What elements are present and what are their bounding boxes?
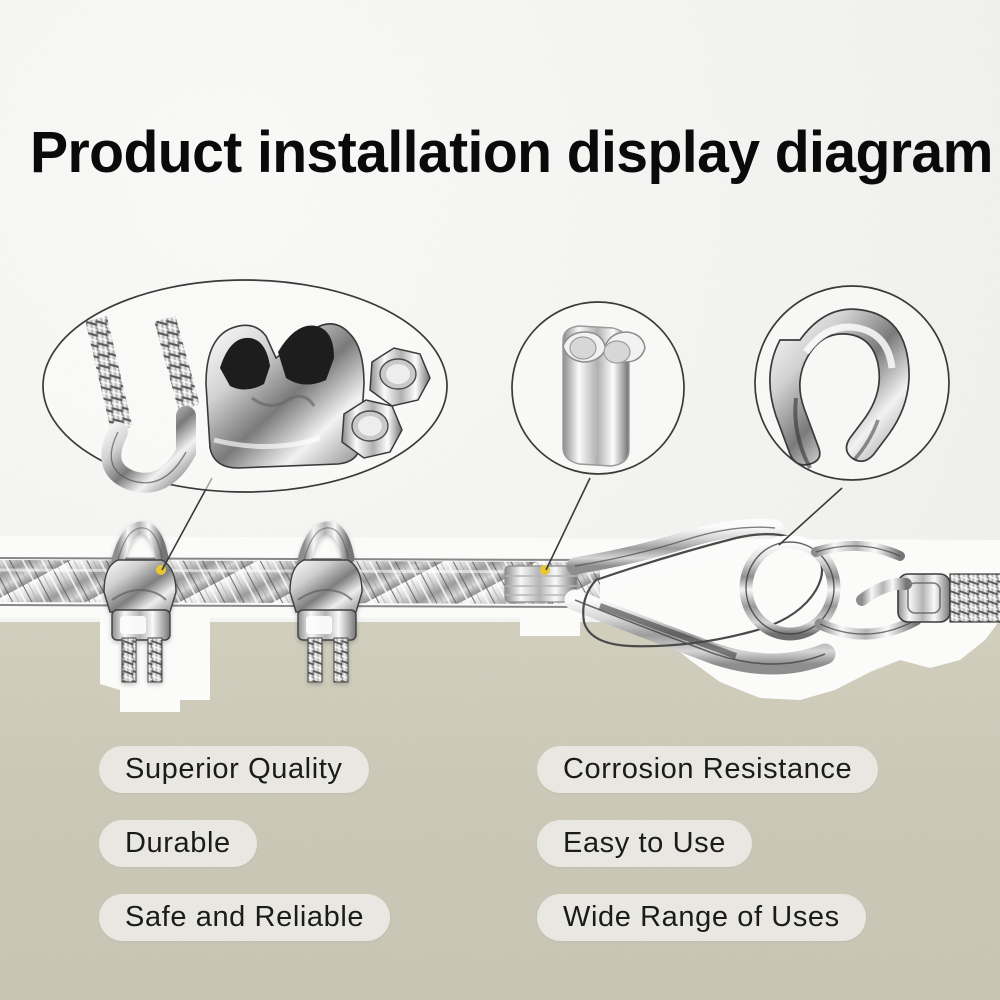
- feature-pill-safe-and-reliable[interactable]: Safe and Reliable: [99, 894, 390, 941]
- feature-list: Superior Quality Durable Safe and Reliab…: [0, 0, 1000, 1000]
- feature-pill-label: Wide Range of Uses: [563, 903, 840, 932]
- product-diagram-page: Product installation display diagram: [0, 0, 1000, 1000]
- feature-pill-easy-to-use[interactable]: Easy to Use: [537, 820, 752, 867]
- feature-pill-superior-quality[interactable]: Superior Quality: [99, 746, 369, 793]
- feature-pill-wide-range-of-uses[interactable]: Wide Range of Uses: [537, 894, 866, 941]
- feature-pill-label: Superior Quality: [125, 755, 343, 784]
- feature-pill-durable[interactable]: Durable: [99, 820, 257, 867]
- feature-pill-label: Durable: [125, 829, 231, 858]
- feature-pill-label: Easy to Use: [563, 829, 726, 858]
- feature-pill-corrosion-resistance[interactable]: Corrosion Resistance: [537, 746, 878, 793]
- feature-pill-label: Safe and Reliable: [125, 903, 364, 932]
- feature-pill-label: Corrosion Resistance: [563, 755, 852, 784]
